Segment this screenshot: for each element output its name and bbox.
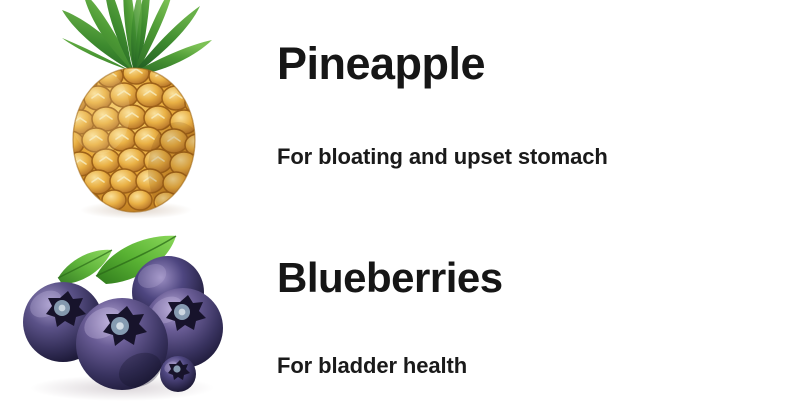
fruit-benefits-list: Pineapple For bloating and upset stomach: [0, 0, 800, 418]
list-item: Pineapple For bloating and upset stomach: [0, 0, 800, 228]
pineapple-body: [48, 62, 211, 218]
blueberries-image-cell: [0, 228, 260, 418]
pineapple-illustration: [0, 0, 260, 228]
entry-title: Pineapple: [277, 41, 485, 86]
entry-benefit: For bloating and upset stomach: [277, 146, 608, 168]
pineapple-image-cell: [0, 0, 260, 228]
blueberries-text-cell: Blueberries For bladder health: [277, 228, 800, 418]
entry-benefit: For bladder health: [277, 355, 467, 377]
blueberry-small: [160, 356, 196, 392]
pineapple-crown: [62, 0, 212, 74]
list-item: Blueberries For bladder health: [0, 228, 800, 418]
pineapple-text-cell: Pineapple For bloating and upset stomach: [277, 0, 800, 228]
entry-title: Blueberries: [277, 257, 503, 299]
blueberries-illustration: [0, 228, 260, 418]
